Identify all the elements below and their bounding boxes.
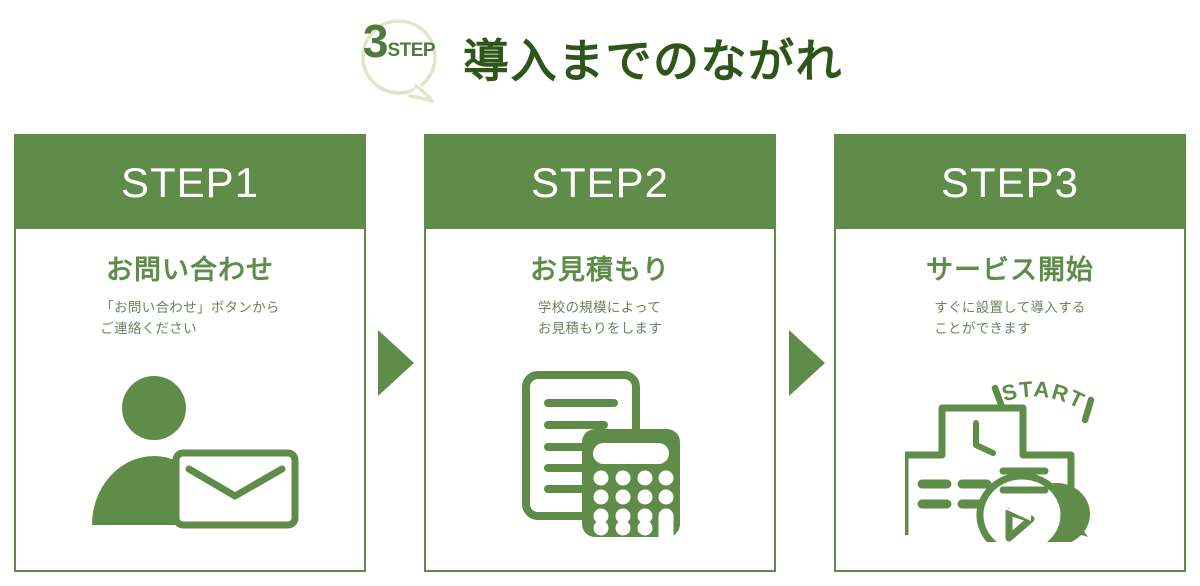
step-card-2-body: お見積もり 学校の規模によって お見積もりをします bbox=[426, 229, 774, 570]
step-card-3-title: サービス開始 bbox=[926, 257, 1094, 284]
step-card-3-body: サービス開始 すぐに設置して導入する ことができます START bbox=[836, 229, 1184, 570]
step-card-1-desc-line-2: ご連絡ください bbox=[100, 319, 279, 340]
step-card-1-icon-area bbox=[16, 340, 364, 570]
school-speech-bubble-start-icon: START bbox=[905, 367, 1115, 542]
step-card-1-header-label: STEP1 bbox=[121, 162, 259, 204]
document-calculator-icon bbox=[508, 366, 693, 544]
arrow-step1-to-step2-icon bbox=[378, 330, 414, 396]
step-card-1-title: お問い合わせ bbox=[106, 257, 274, 284]
badge-text-group: 3 STEP bbox=[353, 18, 445, 96]
step-card-3-desc-line-2: ことができます bbox=[934, 319, 1085, 340]
steps-row: STEP1 お問い合わせ 「お問い合わせ」ボタンから ご連絡ください STEP2 bbox=[0, 134, 1200, 574]
step-count-badge: 3 STEP bbox=[353, 18, 449, 104]
step-card-2: STEP2 お見積もり 学校の規模によって お見積もりをします bbox=[424, 134, 776, 572]
step-card-3-header-label: STEP3 bbox=[941, 162, 1079, 204]
step-card-2-header: STEP2 bbox=[426, 136, 774, 229]
arrow-step2-to-step3-icon bbox=[789, 330, 825, 396]
badge-step-label: STEP bbox=[387, 41, 435, 60]
step-card-3-desc-line-1: すぐに設置して導入する bbox=[934, 298, 1085, 319]
step-card-1-description: 「お問い合わせ」ボタンから ご連絡ください bbox=[100, 298, 279, 340]
step-card-3-description: すぐに設置して導入する ことができます bbox=[934, 298, 1085, 340]
step-card-1: STEP1 お問い合わせ 「お問い合わせ」ボタンから ご連絡ください bbox=[14, 134, 366, 572]
step-card-1-body: お問い合わせ 「お問い合わせ」ボタンから ご連絡ください bbox=[16, 229, 364, 570]
badge-number: 3 bbox=[363, 18, 388, 64]
step-card-2-header-label: STEP2 bbox=[531, 162, 669, 204]
step-card-2-desc-line-2: お見積もりをします bbox=[538, 319, 662, 340]
person-with-envelope-icon bbox=[75, 372, 305, 537]
page-title: 導入までのながれ bbox=[463, 38, 843, 84]
step-card-2-description: 学校の規模によって お見積もりをします bbox=[538, 298, 662, 340]
step-card-3: STEP3 サービス開始 すぐに設置して導入する ことができます START bbox=[834, 134, 1186, 572]
page-header: 3 STEP 導入までのながれ bbox=[0, 0, 1200, 122]
step-card-3-icon-area: START bbox=[836, 340, 1184, 570]
header-inner: 3 STEP 導入までのながれ bbox=[353, 7, 843, 115]
step-card-1-header: STEP1 bbox=[16, 136, 364, 229]
step-card-3-header: STEP3 bbox=[836, 136, 1184, 229]
step-card-1-desc-line-1: 「お問い合わせ」ボタンから bbox=[100, 298, 279, 319]
step-card-2-desc-line-1: 学校の規模によって bbox=[538, 298, 662, 319]
step-card-2-icon-area bbox=[426, 340, 774, 570]
step-card-2-title: お見積もり bbox=[530, 257, 670, 284]
